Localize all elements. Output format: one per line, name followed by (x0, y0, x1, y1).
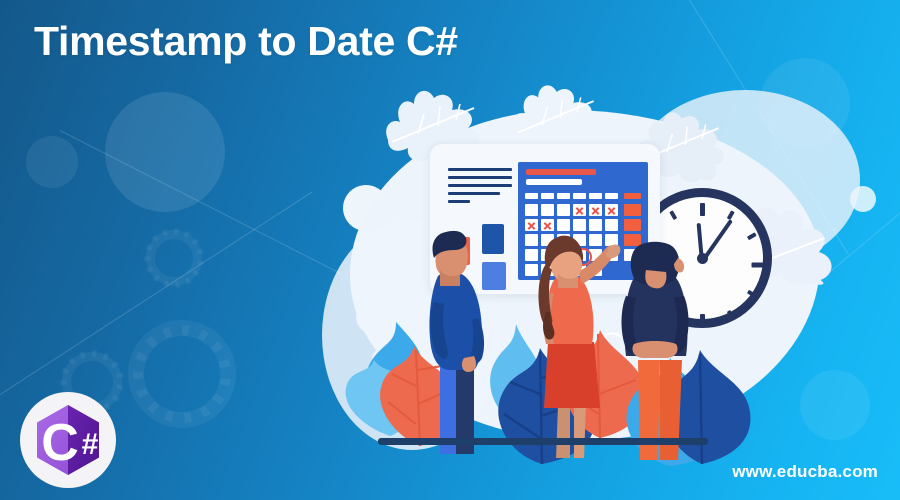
calendar-header-cell (541, 193, 554, 199)
calendar-header-cell-accent (624, 193, 641, 199)
clock-tick (726, 310, 734, 320)
board-text-line (448, 192, 500, 195)
ground-line (378, 438, 708, 445)
calendar-sub-bar (526, 179, 582, 185)
calendar-header-cell (557, 193, 570, 199)
calendar-header-cell (605, 193, 618, 199)
clock-tick (746, 232, 756, 240)
illustration (330, 70, 840, 470)
person-right (602, 210, 708, 460)
calendar-title-bar (526, 169, 596, 175)
logo-sharp-symbol: # (82, 428, 99, 461)
board-text-line (448, 176, 512, 179)
csharp-logo: C # (20, 392, 116, 488)
board-text-line (448, 184, 512, 187)
clock-tick (746, 290, 756, 298)
site-url: www.educba.com (732, 462, 878, 482)
educba-banner: Timestamp to Date C# C # www.educba.com (0, 0, 900, 500)
board-text-line (448, 168, 512, 171)
calendar-header-cell (573, 193, 586, 199)
page-title: Timestamp to Date C# (34, 18, 458, 65)
person-left (404, 214, 500, 454)
clock-tick (751, 263, 764, 268)
logo-letter: C (41, 414, 79, 472)
bubble-shape (26, 136, 78, 188)
board-text-line (448, 200, 470, 203)
calendar-header-cell (589, 193, 602, 199)
calendar-header-cell (525, 193, 538, 199)
gear-icon (128, 320, 236, 428)
gear-icon (146, 230, 202, 286)
bubble-shape (105, 92, 225, 212)
